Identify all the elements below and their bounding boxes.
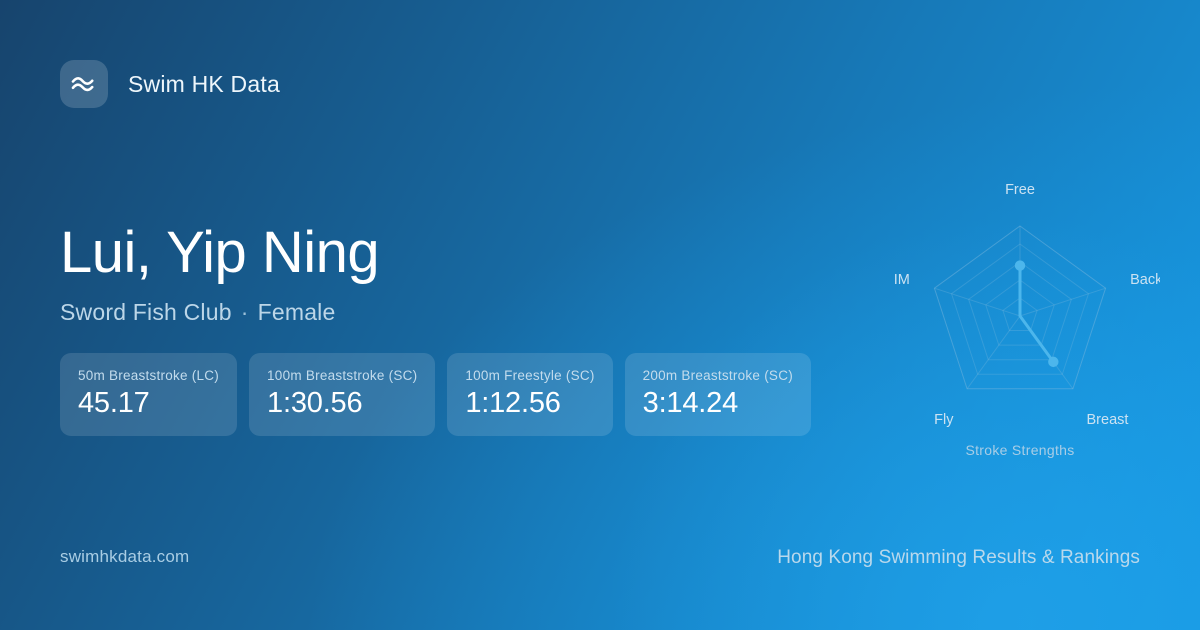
stat-label: 100m Breaststroke (SC)	[267, 368, 417, 383]
radar-data-point	[1015, 260, 1025, 270]
stat-value: 45.17	[78, 388, 219, 420]
stat-value: 1:30.56	[267, 388, 417, 420]
meta-separator: ·	[241, 299, 249, 325]
brand: Swim HK Data	[60, 60, 280, 108]
radar-axis-label-breast: Breast	[1087, 412, 1129, 428]
page-title: Lui, Yip Ning	[60, 222, 379, 285]
stat-card: 100m Freestyle (SC) 1:12.56	[447, 353, 612, 436]
stat-card: 50m Breaststroke (LC) 45.17	[60, 353, 237, 436]
radar-axis-line	[934, 288, 1020, 316]
stat-value: 3:14.24	[643, 388, 793, 420]
stat-label: 100m Freestyle (SC)	[465, 368, 594, 383]
athlete-club: Sword Fish Club	[60, 299, 232, 325]
brand-name: Swim HK Data	[128, 71, 280, 98]
radar-axis-label-im: IM	[894, 272, 910, 288]
radar-series-shape	[1020, 266, 1053, 362]
radar-data-point	[1048, 357, 1058, 367]
stat-value: 1:12.56	[465, 388, 594, 420]
radar-axis-label-fly: Fly	[934, 412, 954, 428]
og-card: Swim HK Data Lui, Yip Ning Sword Fish Cl…	[0, 0, 1200, 630]
radar-axis-label-free: Free	[1005, 182, 1035, 198]
radar-axis-line	[1020, 288, 1106, 316]
athlete-header: Lui, Yip Ning Sword Fish Club·Female	[60, 222, 379, 326]
footer-tagline: Hong Kong Swimming Results & Rankings	[777, 547, 1140, 569]
stat-card: 200m Breaststroke (SC) 3:14.24	[625, 353, 811, 436]
radar-axis-label-back: Back	[1130, 272, 1160, 288]
footer-site-url: swimhkdata.com	[60, 547, 189, 567]
radar-axis-line	[967, 316, 1020, 389]
radar-axis-labels: FreeBackBreastFlyIM	[894, 182, 1160, 428]
radar-series	[1015, 260, 1059, 367]
stroke-strengths-radar-chart: FreeBackBreastFlyIM Stroke Strengths	[880, 165, 1160, 470]
stat-label: 50m Breaststroke (LC)	[78, 368, 219, 383]
stat-card: 100m Breaststroke (SC) 1:30.56	[249, 353, 435, 436]
wave-icon	[60, 60, 108, 108]
athlete-meta: Sword Fish Club·Female	[60, 299, 379, 326]
stat-card-list: 50m Breaststroke (LC) 45.17 100m Breasts…	[60, 353, 811, 436]
stat-label: 200m Breaststroke (SC)	[643, 368, 793, 383]
chart-caption: Stroke Strengths	[880, 442, 1160, 458]
athlete-gender: Female	[258, 299, 336, 325]
